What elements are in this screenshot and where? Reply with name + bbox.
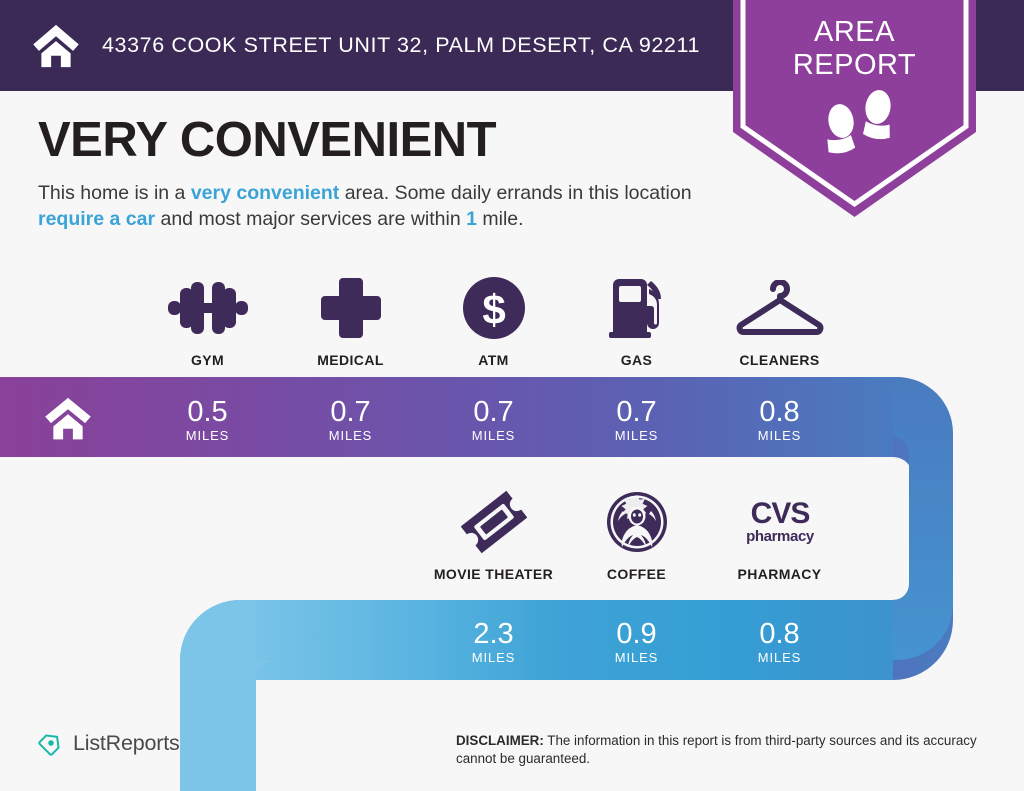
distance-cell-cleaners: 0.8 MILES	[708, 386, 851, 454]
movie-ticket-icon	[461, 490, 527, 554]
page-title: VERY CONVENIENT	[38, 112, 758, 168]
amenity-gym: GYM	[136, 276, 279, 368]
distance-cell-gym: 0.5 MILES	[136, 386, 279, 454]
clothes-hanger-icon	[733, 276, 827, 340]
amenity-medical: MEDICAL	[279, 276, 422, 368]
distance-cell-coffee: 0.9 MILES	[565, 608, 708, 676]
dollar-circle-icon: $	[463, 276, 525, 340]
summary-highlight-3: 1	[466, 208, 477, 230]
amenity-icons-row-2: MOVIE THEATER COFFEE	[422, 490, 916, 582]
area-report-page: 43376 COOK STREET UNIT 32, PALM DESERT, …	[0, 0, 1024, 791]
amenity-label: MOVIE THEATER	[434, 566, 553, 582]
amenity-label: MEDICAL	[317, 352, 384, 368]
distance-cell-gas: 0.7 MILES	[565, 386, 708, 454]
distance-cell-atm: 0.7 MILES	[422, 386, 565, 454]
distance-cell-movie-theater: 2.3 MILES	[422, 608, 565, 676]
distance-value: 0.5	[187, 397, 227, 427]
summary-part-1: This home is in a	[38, 182, 191, 204]
amenity-pharmacy: CVS pharmacy PHARMACY	[708, 490, 851, 582]
headline-section: VERY CONVENIENT This home is in a very c…	[38, 112, 758, 232]
distance-value: 2.3	[473, 619, 513, 649]
distance-values-row-2: 2.3 MILES 0.9 MILES 0.8 MILES	[422, 608, 916, 676]
summary-highlight-2: require a car	[38, 208, 155, 230]
distance-unit: MILES	[472, 650, 516, 665]
listreports-house-icon	[38, 730, 64, 756]
starbucks-siren-icon	[606, 490, 668, 554]
dumbbell-icon	[162, 276, 254, 340]
area-report-badge: AREA REPORT	[733, 0, 976, 217]
amenity-label: GYM	[191, 352, 224, 368]
disclaimer: DISCLAIMER: The information in this repo…	[456, 732, 996, 768]
property-address: 43376 COOK STREET UNIT 32, PALM DESERT, …	[102, 33, 700, 58]
home-marker	[42, 394, 94, 444]
distance-value: 0.7	[473, 397, 513, 427]
amenity-coffee: COFFEE	[565, 490, 708, 582]
listreports-logo[interactable]: ListReports	[38, 730, 180, 756]
distance-cell-pharmacy: 0.8 MILES	[708, 608, 851, 676]
amenity-cleaners: CLEANERS	[708, 276, 851, 368]
summary-part-2: area. Some daily errands in this locatio…	[339, 182, 691, 204]
distance-unit: MILES	[758, 428, 802, 443]
distance-value: 0.7	[616, 397, 656, 427]
home-icon	[30, 20, 82, 72]
summary-text: This home is in a very convenient area. …	[38, 180, 728, 232]
gas-pump-icon	[605, 276, 669, 340]
medical-cross-icon	[319, 276, 383, 340]
disclaimer-label: DISCLAIMER:	[456, 733, 544, 748]
distance-value: 0.8	[759, 397, 799, 427]
distance-values-row-1: 0.5 MILES 0.7 MILES 0.7 MILES 0.7 MILES …	[136, 386, 916, 454]
amenity-label: GAS	[621, 352, 653, 368]
distance-value: 0.8	[759, 619, 799, 649]
amenity-label: CLEANERS	[739, 352, 819, 368]
cvs-pharmacy-icon: CVS pharmacy	[734, 490, 826, 554]
distance-unit: MILES	[615, 650, 659, 665]
distance-unit: MILES	[186, 428, 230, 443]
distance-value: 0.9	[616, 619, 656, 649]
distance-cell-medical: 0.7 MILES	[279, 386, 422, 454]
summary-part-3: and most major services are within	[155, 208, 466, 230]
listreports-wordmark: ListReports	[73, 731, 180, 756]
amenity-label: ATM	[478, 352, 509, 368]
amenity-gas: GAS	[565, 276, 708, 368]
amenity-icons-row-1: GYM MEDICAL $ ATM	[136, 276, 916, 368]
amenity-atm: $ ATM	[422, 276, 565, 368]
summary-highlight-1: very convenient	[191, 182, 339, 204]
svg-text:pharmacy: pharmacy	[746, 528, 815, 545]
amenity-movie-theater: MOVIE THEATER	[422, 490, 565, 582]
distance-value: 0.7	[330, 397, 370, 427]
svg-text:CVS: CVS	[750, 497, 809, 530]
amenity-label: COFFEE	[607, 566, 666, 582]
distance-unit: MILES	[329, 428, 373, 443]
distance-unit: MILES	[615, 428, 659, 443]
distance-unit: MILES	[472, 428, 516, 443]
summary-part-4: mile.	[477, 208, 524, 230]
distance-unit: MILES	[758, 650, 802, 665]
amenity-label: PHARMACY	[737, 566, 821, 582]
svg-text:$: $	[482, 286, 505, 333]
